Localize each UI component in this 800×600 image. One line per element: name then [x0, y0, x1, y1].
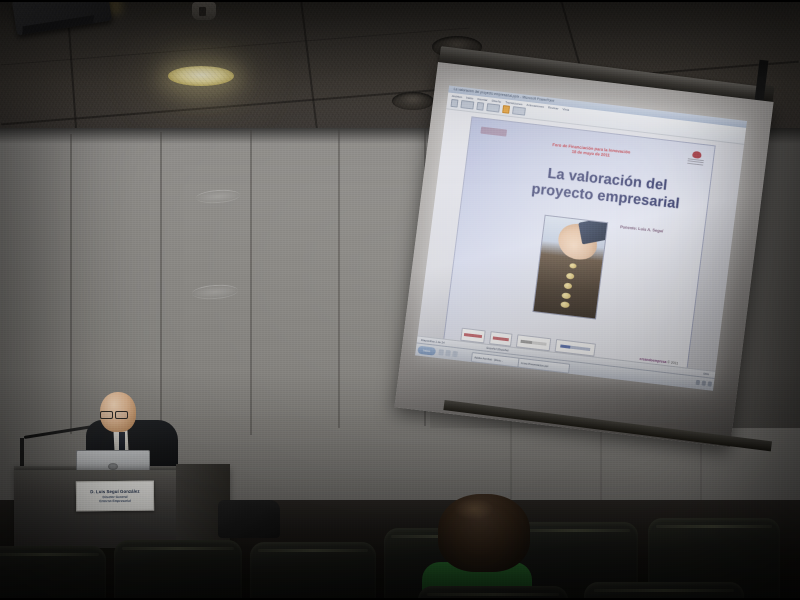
auditorium-seat [250, 542, 376, 600]
name-placard: D. Luis Seguí González Director General … [76, 481, 154, 512]
clock-icon[interactable] [707, 381, 712, 386]
projector-mount [40, 0, 45, 6]
ribbon-tab[interactable]: Inicio [466, 95, 474, 100]
slide-kicker: Foro de Financiación para la Innovación … [527, 140, 656, 163]
coin-icon [561, 292, 571, 299]
folder-icon[interactable] [445, 350, 451, 357]
start-button[interactable]: Inicio [417, 346, 436, 356]
slide-photo-seed-planting [532, 215, 608, 320]
slide-title: La valoración del proyecto empresarial [509, 162, 704, 214]
wall-panel-seam [160, 132, 162, 432]
slide-left-logo [480, 127, 507, 137]
network-icon[interactable] [696, 380, 701, 385]
auditorium-seat-front-row [584, 582, 744, 600]
audience-hair-highlight [454, 498, 494, 520]
projected-desktop: La valoracion del proyecto empresarial.p… [415, 85, 747, 390]
slide-canvas: Foro de Financiación para la Innovación … [442, 116, 716, 377]
wall-panel-seam [250, 130, 252, 435]
projection-screen: La valoracion del proyecto empresarial.p… [394, 62, 773, 447]
auditorium-seat [0, 546, 106, 600]
sleeve-shape [578, 217, 608, 244]
ceiling-tile-seam [1, 28, 470, 66]
media-icon[interactable] [452, 351, 458, 358]
shapes-icon[interactable] [502, 105, 510, 114]
eyeglasses-icon [100, 411, 130, 417]
ribbon-tab[interactable]: Animaciones [526, 102, 544, 108]
placard-name: D. Luis Seguí González [90, 488, 139, 494]
coin-icon [569, 263, 577, 269]
ie-icon[interactable] [438, 349, 444, 356]
taskbar-task[interactable]: Linea Presentacion.ppt [517, 358, 570, 374]
smoke-detector-icon [192, 2, 216, 20]
conference-room-photo: La valoracion del proyecto empresarial.p… [0, 0, 800, 600]
slide-presenter: Ponente: Luis A. Seguí [596, 222, 688, 236]
ribbon-tab[interactable]: Revisar [548, 105, 559, 110]
ribbon-tab[interactable]: Vista [562, 107, 569, 112]
ceiling-warm-glow [88, 0, 122, 14]
paste-icon[interactable] [450, 99, 458, 108]
quick-launch-bar[interactable] [438, 349, 458, 357]
recessed-light-icon [168, 66, 234, 86]
ceiling-tile-seam [300, 0, 319, 139]
speaker-tie [119, 432, 125, 452]
coin-icon [560, 301, 570, 308]
air-vent-icon [392, 92, 434, 110]
font-icon[interactable] [476, 102, 484, 111]
system-tray[interactable] [696, 380, 713, 387]
ceiling-tile-seam [68, 28, 78, 140]
ribbon-tab[interactable]: Insertar [477, 96, 488, 101]
wall-panel-seam [70, 134, 72, 434]
auditorium-seat-front-row [418, 586, 568, 600]
placard-role: Director General Entorno Empresarial [99, 495, 130, 504]
new-slide-icon[interactable] [460, 100, 474, 109]
ribbon-tab[interactable]: Diseño [491, 98, 501, 103]
coin-icon [564, 283, 573, 290]
taskbar-task[interactable]: Adobe Acrobat - [Docu... [471, 352, 520, 368]
coin-icon [566, 273, 575, 280]
volume-icon[interactable] [702, 381, 707, 386]
wall-panel-seam [338, 128, 340, 428]
ribbon-tab[interactable]: Archivo [452, 93, 463, 98]
projector-icon [12, 0, 112, 35]
bag-object [218, 500, 280, 538]
auditorium-seat [114, 540, 242, 600]
placard-role-line2: Entorno Empresarial [99, 499, 130, 503]
corporate-logo-icon [687, 150, 705, 169]
paragraph-icon[interactable] [486, 103, 500, 112]
drawing-tools-icon[interactable] [512, 106, 526, 115]
